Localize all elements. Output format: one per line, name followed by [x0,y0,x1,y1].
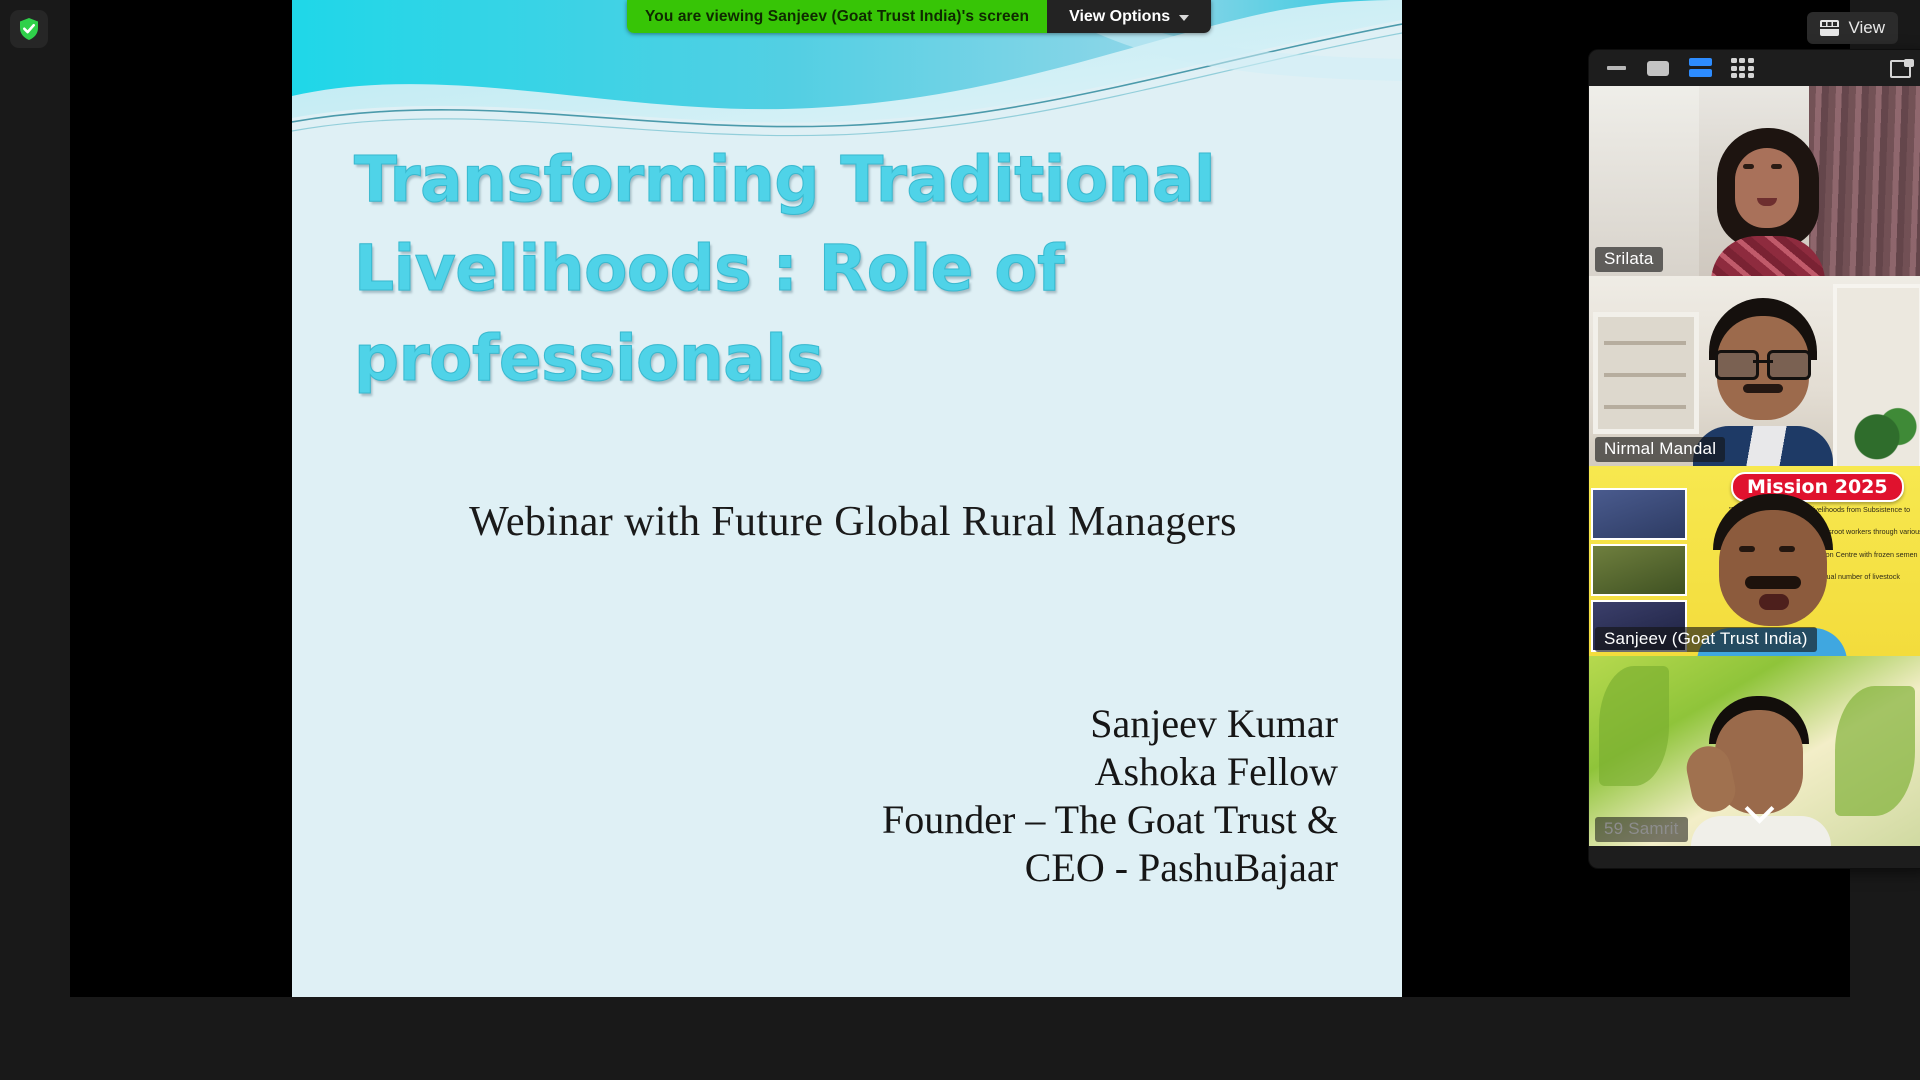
participant-tile-nirmal-mandal[interactable]: Nirmal Mandal [1589,276,1920,466]
minimize-icon [1607,66,1626,70]
maximize-icon [1647,61,1669,76]
maximize-button[interactable] [1637,53,1679,83]
author-title-fellow: Ashoka Fellow [882,748,1338,796]
screen-share-banner: You are viewing Sanjeev (Goat Trust Indi… [627,0,1211,33]
author-role-ceo: CEO - PashuBajaar [882,844,1338,892]
slide-subtitle: Webinar with Future Global Rural Manager… [338,498,1368,546]
shared-screen-stage: Transforming Traditional Livelihoods : R… [70,0,1850,997]
author-role-founder: Founder – The Goat Trust & [882,796,1338,844]
gallery-view-button[interactable] [1721,53,1763,83]
background-plant [1849,396,1919,464]
presentation-slide: Transforming Traditional Livelihoods : R… [292,0,1402,997]
participant-name-label: Nirmal Mandal [1595,437,1725,462]
background-shelf [1593,312,1699,434]
participant-name-label: Sanjeev (Goat Trust India) [1595,627,1817,652]
popout-button[interactable] [1881,53,1920,83]
slide-title: Transforming Traditional Livelihoods : R… [354,135,1334,403]
shield-check-icon [18,17,40,41]
popout-icon [1890,59,1914,78]
view-button-label: View [1848,18,1885,38]
speaker-view-icon [1689,58,1712,78]
participant-tiles: Srilata Nirmal Mandal Mission 2025 [1589,86,1920,868]
speaker-view-button[interactable] [1679,53,1721,83]
view-layout-button[interactable]: View [1807,12,1898,44]
layout-grid-icon [1820,20,1839,36]
background-foliage [1599,666,1669,786]
security-shield-button[interactable] [10,10,48,48]
slide-title-line: Livelihoods : Role of [354,224,1334,313]
view-options-button[interactable]: View Options [1047,0,1211,33]
participant-tile-sanjeev[interactable]: Mission 2025 "To transform goat based li… [1589,466,1920,656]
participants-video-strip: Srilata Nirmal Mandal Mission 2025 [1589,50,1920,868]
minimize-button[interactable] [1595,53,1637,83]
participant-name-label: 59 Samrit [1595,817,1688,842]
slide-title-line: professionals [354,314,1334,403]
video-strip-toolbar [1589,50,1920,86]
zoom-meeting-window: Transforming Traditional Livelihoods : R… [0,0,1920,1080]
slide-title-line: Transforming Traditional [354,135,1334,224]
participant-video-image [1709,128,1827,276]
participant-tile-samrit[interactable]: 59 Samrit [1589,656,1920,846]
scroll-down-button[interactable] [1738,800,1780,828]
participant-tile-srilata[interactable]: Srilata [1589,86,1920,276]
chevron-down-icon [1179,15,1189,21]
slide-author-block: Sanjeev Kumar Ashoka Fellow Founder – Th… [882,700,1338,892]
gallery-view-icon [1731,58,1754,78]
background-foliage [1835,686,1915,816]
author-name: Sanjeev Kumar [882,700,1338,748]
sharing-message: You are viewing Sanjeev (Goat Trust Indi… [627,0,1047,33]
view-options-label: View Options [1069,8,1170,26]
participant-name-label: Srilata [1595,247,1663,272]
